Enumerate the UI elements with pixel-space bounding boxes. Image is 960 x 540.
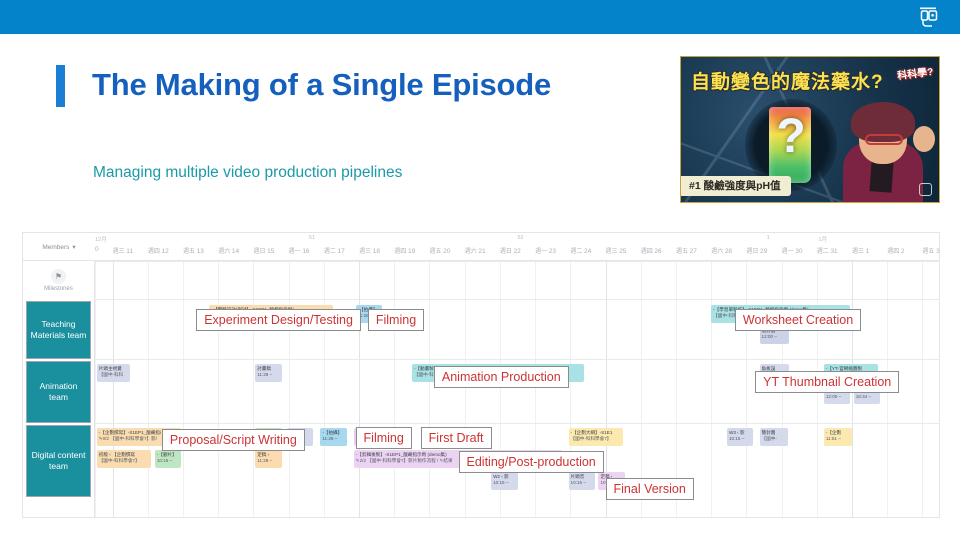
task-title: 討畫稿: [257, 366, 279, 373]
gantt-task-bar[interactable]: W2 ‹ 影10:15 –: [491, 472, 517, 490]
task-title: 定稿 ‹: [257, 452, 279, 459]
phase-callout-label: Filming: [356, 427, 412, 449]
day-tick-label: 週六 14: [218, 246, 239, 255]
milestones-label: Milestones: [44, 286, 73, 292]
day-tick-label: 週日 15: [253, 246, 274, 255]
gantt-chart[interactable]: Members ▾ 12月1月515210週三 11週四 12週五 13週六 1…: [22, 232, 940, 518]
grid-row-line: [95, 359, 939, 360]
day-tick-label: 0: [95, 246, 99, 253]
gantt-task-bar[interactable]: -【拍攝】11:28 –: [320, 428, 346, 446]
day-tick-label: 週二 24: [570, 246, 591, 255]
day-tick-label: 週一 23: [535, 246, 556, 255]
task-meta: 10:15 –: [729, 436, 751, 443]
month-label: 12月: [95, 235, 107, 243]
day-tick-label: 週四 2: [887, 246, 904, 255]
chevron-down-icon: ▾: [72, 243, 75, 251]
top-blue-bar: [0, 0, 960, 34]
page-title: The Making of a Single Episode: [92, 64, 652, 107]
day-tick-label: 週五 3: [922, 246, 939, 255]
thumbnail-episode-label: #1 酸鹼強度與pH值: [681, 176, 791, 196]
task-meta: 10:15 –: [157, 458, 179, 465]
gantt-task-bar[interactable]: 片頭主視覺【國中-科科: [97, 364, 130, 382]
grid-row-line: [95, 423, 939, 424]
task-meta: 【國中-: [762, 436, 786, 443]
episode-thumbnail: ? 自動變色的魔法藥水? 科科學? #1 酸鹼強度與pH值: [680, 56, 940, 203]
day-tick-label: 週四 26: [641, 246, 662, 255]
team-row-animation[interactable]: Animation team: [26, 361, 91, 423]
phase-callout-label: Editing/Post-production: [459, 451, 604, 473]
day-tick-label: 週六 21: [465, 246, 486, 255]
phase-callout-label: YT Thumbnail Creation: [755, 371, 899, 393]
task-meta: 11:28 –: [257, 458, 279, 465]
task-meta: 18:34 –: [856, 394, 878, 401]
grid-row-line: [95, 299, 939, 300]
page-subtitle: Managing multiple video production pipel…: [93, 163, 653, 183]
week-number-label: 52: [518, 235, 524, 241]
day-tick-label: 週五 27: [676, 246, 697, 255]
phase-callout-label: First Draft: [421, 427, 492, 449]
task-meta: 【國中-科科學會7】: [99, 458, 150, 465]
question-mark-overlay: ?: [776, 113, 806, 161]
gantt-side-column: ⚑ Milestones Teaching Materials team Ani…: [23, 261, 95, 517]
gantt-task-bar[interactable]: 初版 ‹ 【企劃撰寫【國中-科科學會7】: [97, 450, 152, 468]
flag-icon: ⚑: [51, 269, 66, 284]
milestones-row-header: ⚑ Milestones: [23, 261, 94, 299]
team-row-digital-content[interactable]: Digital content team: [26, 425, 91, 497]
day-tick-label: 週三 1: [852, 246, 869, 255]
gantt-header-row: Members ▾ 12月1月515210週三 11週四 12週五 13週六 1…: [23, 233, 940, 261]
day-tick-label: 週六 28: [711, 246, 732, 255]
phase-callout-label: Final Version: [606, 478, 694, 500]
watermark-icon: [919, 183, 932, 196]
date-scale: 12月1月515210週三 11週四 12週五 13週六 14週日 15週一 1…: [95, 233, 940, 261]
phase-callout-label: Proposal/Script Writing: [162, 429, 305, 451]
lis-logo-icon: [916, 4, 942, 30]
week-number-label: 51: [309, 235, 315, 241]
day-tick-label: 週五 13: [183, 246, 204, 255]
phase-callout-label: Worksheet Creation: [735, 309, 861, 331]
gantt-task-bar[interactable]: -【企劃11:51 –: [824, 428, 852, 446]
gantt-task-bar[interactable]: 簡封圖【國中-: [760, 428, 788, 446]
task-meta: 12:00 –: [762, 334, 788, 341]
gantt-task-bar[interactable]: 定稿 ‹11:28 –: [255, 450, 281, 468]
task-meta: 10:15 –: [571, 480, 593, 487]
gantt-task-bar[interactable]: -【腳片】10:15 –: [155, 450, 181, 468]
task-title: W2 ‹ 影: [493, 474, 515, 481]
task-meta: 11:28 –: [257, 372, 279, 379]
gantt-task-bar[interactable]: 片頭音10:15 –: [569, 472, 595, 490]
day-tick-label: 週五 20: [429, 246, 450, 255]
gantt-task-bar[interactable]: 討畫稿11:28 –: [255, 364, 281, 382]
day-tick-label: 週三 18: [359, 246, 380, 255]
task-title: 片頭音: [571, 474, 593, 481]
day-tick-label: 週二 17: [324, 246, 345, 255]
task-title: -【企劃: [826, 430, 850, 437]
day-tick-label: 週一 30: [782, 246, 803, 255]
thumbnail-headline: 自動變色的魔法藥水?: [691, 67, 884, 94]
phase-callout-label: Filming: [368, 309, 424, 331]
members-label: Members: [42, 244, 69, 251]
task-meta: 11:28 –: [322, 436, 344, 443]
day-tick-label: 週四 19: [394, 246, 415, 255]
grid-row-line: [95, 261, 939, 262]
team-row-teaching-materials[interactable]: Teaching Materials team: [26, 301, 91, 359]
task-title: -【腳片】: [157, 452, 179, 459]
gantt-task-bar[interactable]: W3 ‹ 影10:15 –: [727, 428, 753, 446]
day-tick-label: 週二 31: [817, 246, 838, 255]
task-meta: 【國中-科科: [99, 372, 128, 379]
title-accent-bar: [56, 65, 65, 107]
day-tick-label: 週日 22: [500, 246, 521, 255]
task-meta: 11:51 –: [826, 436, 850, 443]
gantt-task-bar[interactable]: -【企劃大綱】-S1E1【國中-科科學會7】: [569, 428, 624, 446]
day-tick-label: 週三 11: [113, 246, 133, 255]
day-tick-label: 週三 25: [606, 246, 627, 255]
day-tick-label: 週四 12: [148, 246, 169, 255]
phase-callout-label: Experiment Design/Testing: [196, 309, 361, 331]
day-tick-label: 週日 29: [746, 246, 767, 255]
task-meta: 【國中-科科學會7】: [571, 436, 622, 443]
phase-callout-label: Animation Production: [434, 366, 569, 388]
month-label: 1月: [819, 235, 828, 243]
task-title: -【拍攝】: [322, 430, 344, 437]
task-title: W3 ‹ 影: [729, 430, 751, 437]
task-meta: 12:00 –: [826, 394, 848, 401]
day-tick-label: 週一 16: [289, 246, 310, 255]
members-column-header[interactable]: Members ▾: [23, 233, 95, 261]
week-number-label: 1: [767, 235, 770, 241]
task-meta: 10:15 –: [493, 480, 515, 487]
gantt-timeline-body[interactable]: -【實驗設計/測試】-S1EP1_酸鹼指示劑(【國中-科科學會7】影片製作流程 …: [95, 261, 939, 517]
